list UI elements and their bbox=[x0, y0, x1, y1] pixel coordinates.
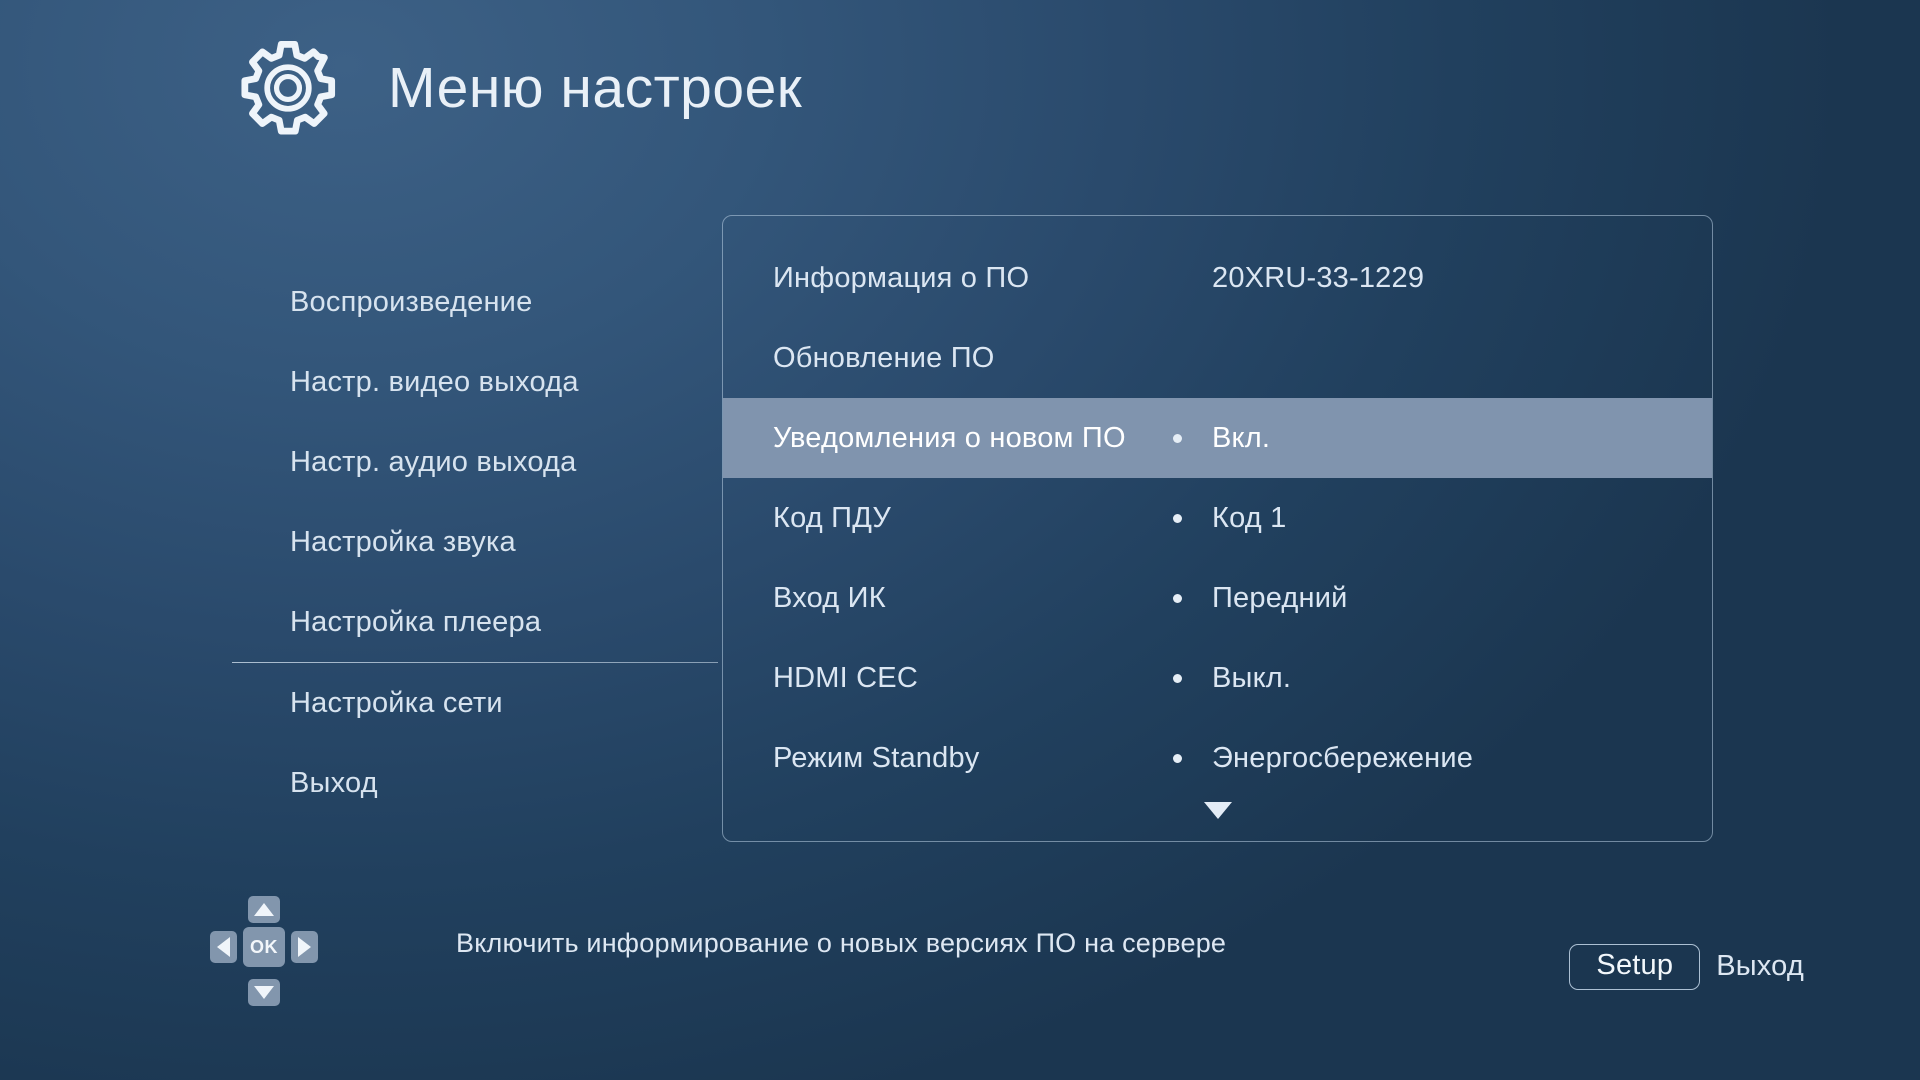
sidebar-item-audio-output[interactable]: Настр. аудио выхода bbox=[232, 422, 718, 502]
row-value: 20XRU-33-1229 bbox=[1212, 262, 1424, 295]
settings-panel: Информация о ПО 20XRU-33-1229 Обновление… bbox=[722, 215, 1713, 842]
sidebar-item-label: Настройка сети bbox=[290, 687, 503, 720]
arrow-down-icon bbox=[254, 986, 274, 999]
row-value-group: Вкл. bbox=[1173, 422, 1270, 455]
dpad-right-button[interactable] bbox=[291, 931, 318, 963]
sidebar-item-label: Воспроизведение bbox=[290, 286, 532, 319]
row-value-group: 20XRU-33-1229 bbox=[1173, 262, 1424, 295]
settings-row-remote-code[interactable]: Код ПДУ Код 1 bbox=[723, 478, 1712, 558]
settings-row-standby-mode[interactable]: Режим Standby Энергосбережение bbox=[723, 718, 1712, 798]
row-value-group bbox=[1173, 354, 1212, 363]
row-label: Вход ИК bbox=[723, 582, 1173, 615]
sidebar-item-label: Выход bbox=[290, 767, 378, 800]
row-label: Обновление ПО bbox=[723, 342, 1173, 375]
settings-row-ir-input[interactable]: Вход ИК Передний bbox=[723, 558, 1712, 638]
dpad-ok-button[interactable]: OK bbox=[243, 927, 285, 967]
exit-label: Выход bbox=[1716, 950, 1804, 983]
bullet-icon bbox=[1173, 674, 1182, 683]
dpad-left-button[interactable] bbox=[210, 931, 237, 963]
settings-row-new-software-notifications[interactable]: Уведомления о новом ПО Вкл. bbox=[723, 398, 1712, 478]
settings-list: Информация о ПО 20XRU-33-1229 Обновление… bbox=[723, 238, 1712, 798]
arrow-left-icon bbox=[217, 937, 230, 957]
row-value-group: Передний bbox=[1173, 582, 1348, 615]
row-label: Код ПДУ bbox=[723, 502, 1173, 535]
sidebar-item-label: Настройка плеера bbox=[290, 606, 541, 639]
row-value: Код 1 bbox=[1212, 502, 1287, 535]
sidebar-item-network-setup[interactable]: Настройка сети bbox=[232, 663, 718, 743]
arrow-up-icon bbox=[254, 903, 274, 916]
bullet-icon bbox=[1173, 434, 1182, 443]
hint-text: Включить информирование о новых версиях … bbox=[456, 928, 1226, 959]
sidebar: Воспроизведение Настр. видео выхода Наст… bbox=[232, 262, 718, 823]
dpad-up-button[interactable] bbox=[248, 896, 280, 923]
bullet-icon bbox=[1173, 514, 1182, 523]
sidebar-item-player-setup[interactable]: Настройка плеера bbox=[232, 582, 718, 662]
dpad-navigation: OK bbox=[210, 896, 318, 1006]
sidebar-item-exit[interactable]: Выход bbox=[232, 743, 718, 823]
settings-row-software-info[interactable]: Информация о ПО 20XRU-33-1229 bbox=[723, 238, 1712, 318]
sidebar-item-label: Настр. аудио выхода bbox=[290, 446, 577, 479]
row-label: Режим Standby bbox=[723, 742, 1173, 775]
dpad-down-button[interactable] bbox=[248, 979, 280, 1006]
sidebar-item-video-output[interactable]: Настр. видео выхода bbox=[232, 342, 718, 422]
header: Меню настроек bbox=[0, 0, 1920, 176]
settings-row-hdmi-cec[interactable]: HDMI CEC Выкл. bbox=[723, 638, 1712, 718]
sidebar-item-sound-setup[interactable]: Настройка звука bbox=[232, 502, 718, 582]
row-value-group: Энергосбережение bbox=[1173, 742, 1473, 775]
row-value-group: Код 1 bbox=[1173, 502, 1287, 535]
row-label: Информация о ПО bbox=[723, 262, 1173, 295]
row-value: Передний bbox=[1212, 582, 1348, 615]
setup-key-badge[interactable]: Setup bbox=[1569, 944, 1700, 990]
row-label: Уведомления о новом ПО bbox=[723, 422, 1173, 455]
bullet-icon bbox=[1173, 594, 1182, 603]
sidebar-item-label: Настр. видео выхода bbox=[290, 366, 579, 399]
row-label: HDMI CEC bbox=[723, 662, 1173, 695]
row-value-group: Выкл. bbox=[1173, 662, 1291, 695]
settings-row-software-update[interactable]: Обновление ПО bbox=[723, 318, 1712, 398]
dpad-ok-label: OK bbox=[250, 937, 278, 958]
sidebar-item-label: Настройка звука bbox=[290, 526, 516, 559]
row-value: Вкл. bbox=[1212, 422, 1270, 455]
arrow-right-icon bbox=[298, 937, 311, 957]
exit-hint-group: Setup Выход bbox=[1569, 944, 1804, 990]
gear-icon bbox=[236, 36, 340, 140]
row-value: Энергосбережение bbox=[1212, 742, 1473, 775]
page-title: Меню настроек bbox=[388, 55, 802, 121]
sidebar-item-playback[interactable]: Воспроизведение bbox=[232, 262, 718, 342]
chevron-down-icon[interactable] bbox=[1204, 802, 1232, 819]
bullet-icon bbox=[1173, 754, 1182, 763]
row-value: Выкл. bbox=[1212, 662, 1291, 695]
